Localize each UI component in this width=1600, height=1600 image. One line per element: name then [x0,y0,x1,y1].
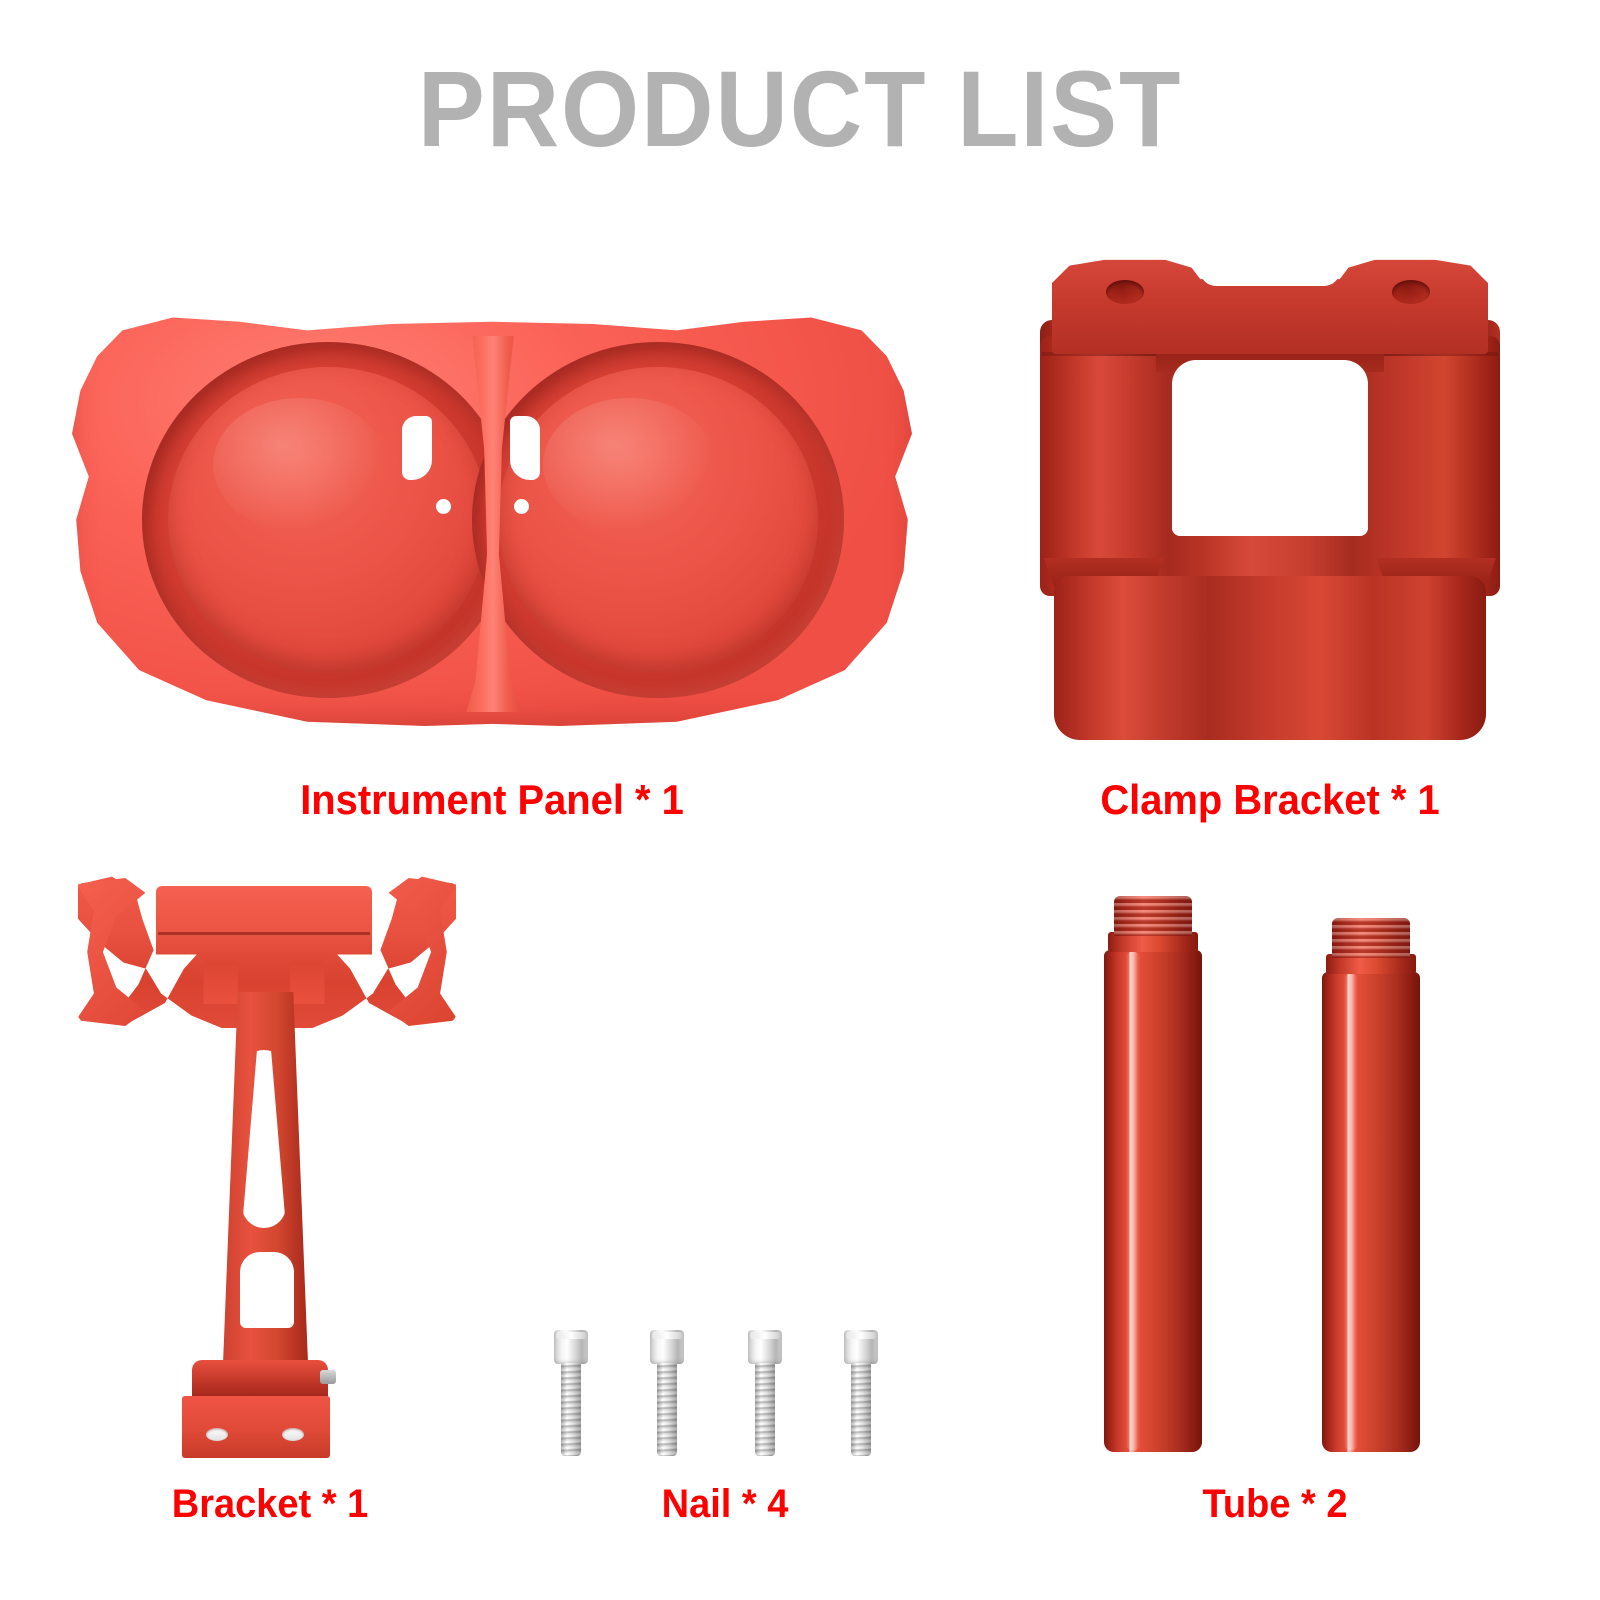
threaded-tube-icon [1322,918,1420,1452]
screw-shaft-1 [561,1363,581,1456]
caption-instrument-panel: Instrument Panel * 1 [93,776,891,824]
clamp-bolt-hole-right [1392,280,1430,304]
bracket-crossbar-seam [158,932,370,935]
gauge-pod-right-inner [498,367,818,673]
clamp-center-window [1172,360,1368,536]
tube-thread-1 [1114,896,1192,936]
gauge-pod-left-inner [168,367,488,673]
tube-highlight-2 [1344,974,1358,1450]
tube-highlight-1 [1126,952,1140,1450]
bracket-base-plate [182,1396,330,1458]
gauge-pod-right-highlight [543,398,716,533]
screw-shaft-3 [755,1363,775,1456]
screw-head-2 [650,1330,684,1364]
product-image-tube [1090,896,1460,1452]
threaded-tube-icon [1104,896,1202,1452]
socket-cap-screw-icon [844,1330,878,1456]
panel-cutout-left [402,416,432,480]
panel-top-notch [274,297,711,313]
screw-shaft-4 [851,1363,871,1456]
screw-head-1 [554,1330,588,1364]
page-title: PRODUCT LIST [56,52,1544,165]
caption-bracket: Bracket * 1 [33,1482,508,1527]
panel-screw-hole-right [514,499,529,514]
bracket-base-hole-right [282,1428,304,1441]
product-image-bracket [72,872,462,1452]
tube-barrel-1 [1104,950,1202,1452]
bracket-hinge-pin [320,1370,336,1384]
panel-cutout-right [510,416,540,480]
tube-barrel-2 [1322,972,1420,1452]
screw-shaft-2 [657,1363,677,1456]
twin-gauge-pod-icon [72,296,912,726]
caption-nail: Nail * 4 [549,1482,901,1527]
gauge-pod-left-highlight [213,398,386,533]
panel-screw-hole-left [436,499,451,514]
gauge-pod-left [142,342,514,698]
caption-clamp-bracket: Clamp Bracket * 1 [1052,776,1489,824]
bracket-base-hole-left [206,1428,228,1441]
gauge-pod-right [472,342,844,698]
product-image-clamp-bracket [1040,258,1500,758]
screw-head-3 [748,1330,782,1364]
product-list-page: PRODUCT LIST Instrument Panel * 1 [0,0,1600,1600]
clamp-saddle-recess [1200,260,1340,286]
tube-thread-2 [1332,918,1410,958]
socket-cap-screw-icon [748,1330,782,1456]
bracket-stem-slot-lower [240,1252,294,1328]
screw-head-4 [844,1330,878,1364]
clamp-base-block [1054,576,1486,740]
clamp-bolt-hole-left [1106,280,1144,304]
product-image-instrument-panel [72,296,912,726]
socket-cap-screw-icon [650,1330,684,1456]
socket-cap-screw-icon [554,1330,588,1456]
caption-tube: Tube * 2 [1099,1482,1451,1527]
product-image-nail [540,1330,910,1460]
